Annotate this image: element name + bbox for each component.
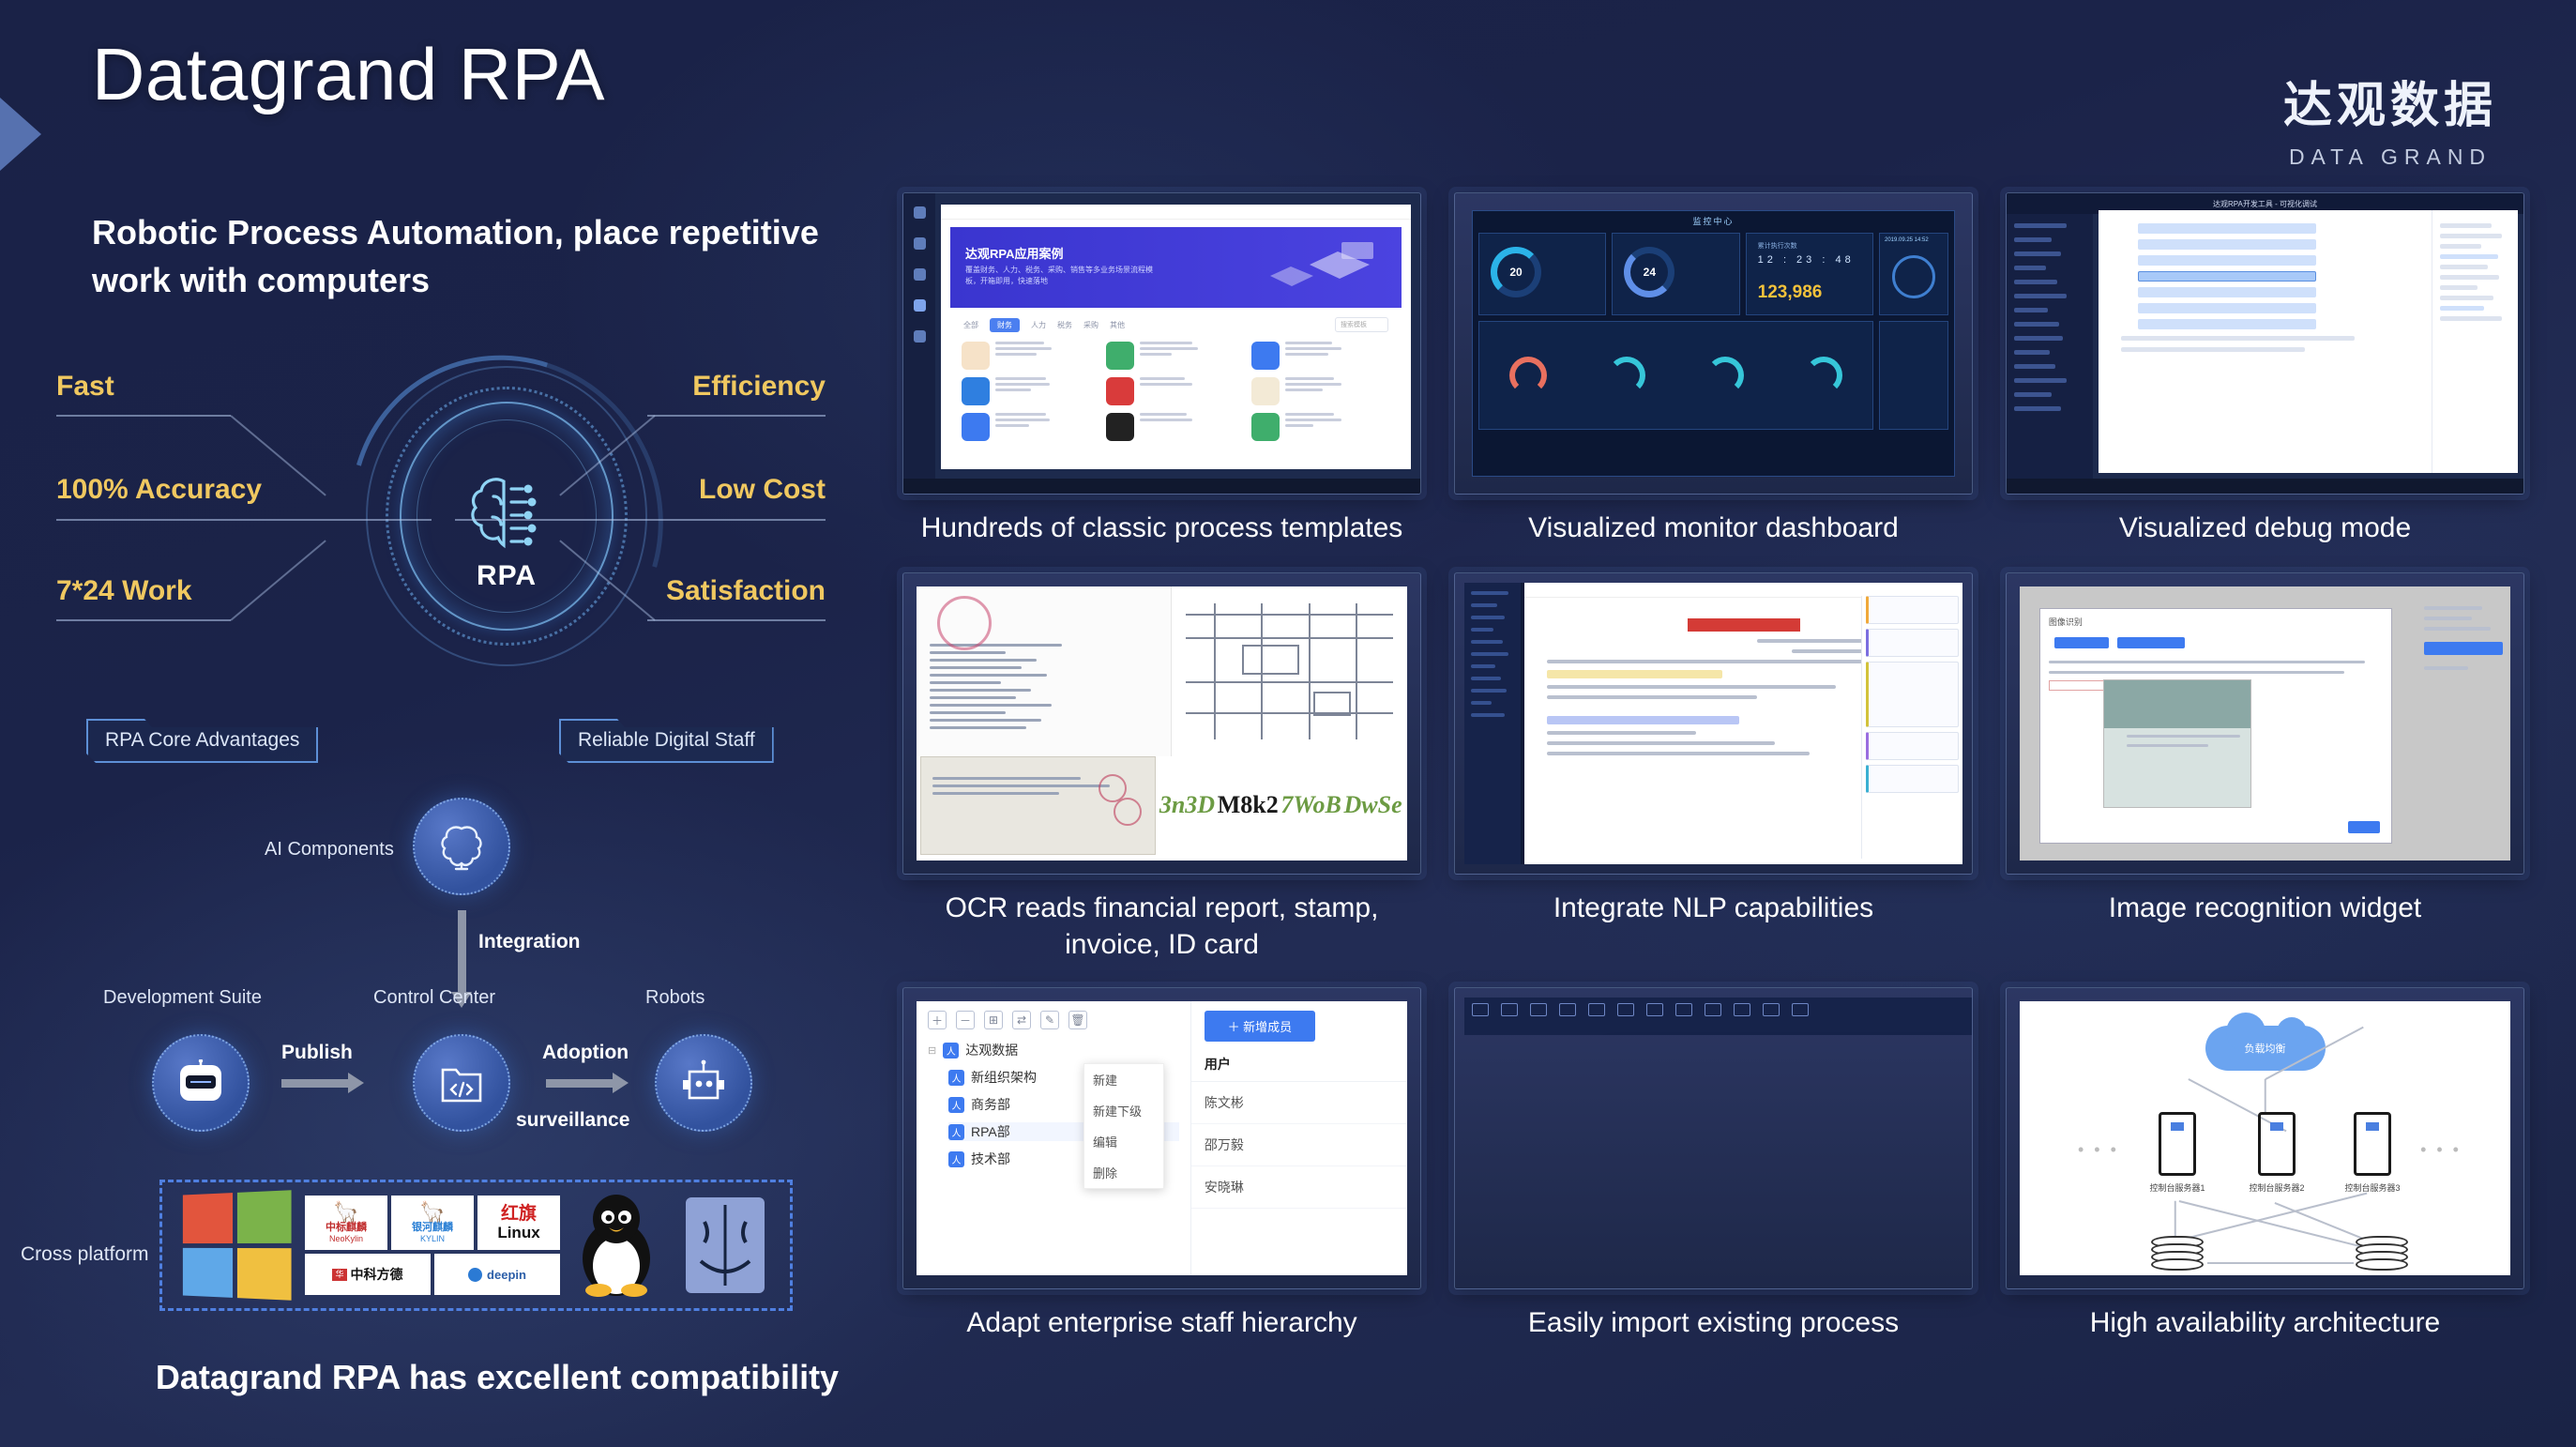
stamp-icon — [937, 596, 992, 650]
edge-srv3-db1 — [2185, 1193, 2367, 1240]
advantage-low-cost: Low Cost — [699, 474, 826, 506]
org-tree-toolbar[interactable]: ＋ － ⊞ ⇄ ✎ 🗑 — [928, 1011, 1179, 1029]
node-ai-components — [413, 798, 510, 895]
tab-other[interactable]: 其他 — [1110, 320, 1125, 330]
recognition-dialog-title: 图像识别 — [2040, 609, 2392, 634]
context-menu[interactable]: 新建 新建下级 编辑 删除 — [1083, 1063, 1164, 1189]
feature-row-1: 达观RPA应用案例 覆盖财务、人力、税务、采购、销售等多业务场景流程模板，开箱即… — [902, 192, 2525, 546]
deepin-logo: deepin — [434, 1254, 560, 1295]
add-icon[interactable]: ＋ — [928, 1011, 947, 1029]
tab-finance[interactable]: 财务 — [990, 318, 1020, 332]
feature-row-3: ＋ － ⊞ ⇄ ✎ 🗑 ⊟ 人 达观数据 — [902, 987, 2525, 1341]
template-tabs[interactable]: 全部 财务 人力 税务 采购 其他 搜索模板 — [950, 308, 1402, 338]
run-icon[interactable] — [1588, 1003, 1605, 1016]
kpi-card-a: 20 — [1478, 233, 1606, 315]
collapse-icon[interactable]: ⊟ — [928, 1044, 936, 1057]
deepin-name: deepin — [487, 1269, 526, 1281]
ocr-id-card-scan — [920, 756, 1156, 855]
record-icon[interactable] — [1617, 1003, 1634, 1016]
org-tree-panel[interactable]: ＋ － ⊞ ⇄ ✎ 🗑 ⊟ 人 达观数据 — [917, 1001, 1191, 1275]
tab-all[interactable]: 全部 — [963, 320, 978, 330]
tree-child-1: 新组织架构 — [971, 1068, 1037, 1087]
advantage-fast: Fast — [56, 371, 114, 403]
redo-icon[interactable] — [1559, 1003, 1576, 1016]
screenshot-nlp-document[interactable] — [1454, 572, 1973, 875]
advantage-accuracy: 100% Accuracy — [56, 474, 262, 506]
caption-template-gallery: Hundreds of classic process templates — [902, 510, 1421, 546]
label-robots: Robots — [645, 987, 705, 1009]
user-list-header: 用户 — [1191, 1042, 1407, 1082]
flow-label-integration: Integration — [478, 931, 581, 953]
redflag-linux-logo: 红旗 Linux — [477, 1196, 560, 1250]
feature-card-nlp[interactable]: Integrate NLP capabilities — [1454, 572, 1973, 963]
connector-satisfaction — [647, 619, 826, 621]
load-balancer-cloud: 负载均衡 — [2205, 1026, 2326, 1071]
caption-staff-hierarchy: Adapt enterprise staff hierarchy — [902, 1304, 1421, 1341]
edge-srv1-db2 — [2179, 1200, 2371, 1249]
database-master-label: MySQL-Master — [2126, 1288, 2229, 1289]
kpi-card-total: 累计执行次数 12 : 23 : 48 123,986 — [1746, 233, 1873, 315]
nfs-china-logo: 华 中科方德 — [305, 1254, 431, 1295]
recognition-side-panel — [2424, 600, 2503, 681]
finder-logo — [673, 1188, 778, 1302]
recognition-target-image — [2103, 679, 2250, 808]
undo-icon[interactable] — [1530, 1003, 1547, 1016]
caption-nlp: Integrate NLP capabilities — [1454, 890, 1973, 926]
arrow-integration — [458, 910, 466, 993]
cross-platform-logos: 🦙 中标麒麟 NeoKylin 🦙 银河麒麟 KYLIN 红旗 Linux 华 … — [159, 1180, 793, 1311]
nlp-sidebar — [1464, 583, 1521, 864]
redflag-name-cn: 红旗 — [501, 1205, 537, 1223]
load-balancer-label: 负载均衡 — [2245, 1041, 2286, 1056]
user-row[interactable]: 陈文彬 — [1191, 1082, 1407, 1124]
screenshot-ocr-documents[interactable]: 3n3D M8k2 7WoB DwSe — [902, 572, 1421, 875]
feature-row-2: 3n3D M8k2 7WoB DwSe OCR reads financial … — [902, 572, 2525, 963]
robot-node-icon — [679, 1059, 728, 1107]
add-member-button[interactable]: ＋ 新增成员 — [1205, 1011, 1315, 1042]
robot-head-node-icon — [174, 1059, 227, 1106]
rpa-center-label: RPA — [477, 560, 537, 592]
kylin-name-cn: 银河麒麟 — [412, 1223, 453, 1233]
user-row[interactable]: 安晓琳 — [1191, 1166, 1407, 1209]
screenshot-image-recognition[interactable]: 图像识别 — [2006, 572, 2524, 875]
kpi-clock: 12 : 23 : 48 — [1758, 254, 1855, 266]
database-slave — [2356, 1236, 2408, 1285]
template-search-input[interactable]: 搜索模板 — [1335, 317, 1388, 332]
org-icon: 人 — [948, 1151, 964, 1167]
debug-sidebar — [2007, 214, 2093, 479]
recognition-dialog[interactable]: 图像识别 — [2039, 608, 2393, 844]
org-icon: 人 — [948, 1124, 964, 1140]
dashboard-kpi-row: 20 24 累计执行次数 12 : 23 : 48 123,986 2019.0… — [1473, 229, 1954, 319]
compatibility-tagline: Datagrand RPA has excellent compatibilit… — [150, 1358, 844, 1397]
server-2 — [2258, 1112, 2296, 1176]
brand-logo: 达观数据 DATA GRAND — [2283, 66, 2497, 170]
context-menu-edit[interactable]: 编辑 — [1084, 1126, 1163, 1157]
template-item[interactable] — [1106, 413, 1245, 441]
edge-master-slave — [2207, 1262, 2354, 1264]
connector-247-diagonal — [230, 540, 326, 620]
settings-icon[interactable] — [1763, 1003, 1780, 1016]
ocr-captcha-samples: 3n3D M8k2 7WoB DwSe — [1159, 756, 1404, 855]
node-control-center — [413, 1034, 510, 1132]
captcha-3: 7WoB — [1280, 791, 1341, 819]
member-panel: ＋ 新增成员 用户 陈文彬 邵万毅 安晓琳 — [1191, 1001, 1407, 1275]
tab-purchase[interactable]: 采购 — [1083, 320, 1099, 330]
template-item[interactable] — [1251, 377, 1390, 405]
kpi-card-b: 24 — [1612, 233, 1739, 315]
ocr-report-scan — [917, 586, 1172, 756]
page-subtitle: Robotic Process Automation, place repeti… — [92, 208, 861, 304]
template-hero-title: 达观RPA应用案例 — [965, 244, 1063, 262]
cross-platform-label: Cross platform — [21, 1243, 149, 1266]
taskbar — [903, 479, 1420, 494]
rpa-architecture-flow: AI Components Integration Development Su… — [0, 779, 891, 1154]
ocr-cad-drawing — [1172, 586, 1407, 756]
debug-canvas[interactable] — [2099, 210, 2518, 473]
brand-logo-en: DATA GRAND — [2283, 145, 2497, 170]
dashboard-timestamp: 2019.09.25 14:52 — [1885, 237, 1929, 243]
taskbar — [2007, 479, 2523, 494]
template-item[interactable] — [1251, 413, 1390, 441]
screenshot-import-process[interactable]: 编程 网络 Word Excel PDF PPT 系统与文件操作 图片与验证码 … — [1454, 987, 1973, 1289]
kylin-logo: 🦙 银河麒麟 KYLIN — [391, 1196, 474, 1250]
template-card-grid — [950, 338, 1402, 445]
template-item[interactable] — [1251, 342, 1390, 370]
user-row[interactable]: 邵万毅 — [1191, 1124, 1407, 1166]
recognition-confirm-button[interactable] — [2348, 821, 2380, 833]
brain-node-icon — [438, 821, 485, 872]
caption-image-recognition: Image recognition widget — [2006, 890, 2524, 926]
caption-ha-architecture: High availability architecture — [2006, 1304, 2524, 1341]
feature-card-monitor-dashboard[interactable]: 监控中心 20 24 累计执行次数 12 : 23 : 48 123,986 — [1454, 192, 1973, 546]
captcha-1: 3n3D — [1159, 791, 1215, 819]
ellipsis-left: • • • — [2078, 1140, 2119, 1160]
flow-label-publish: Publish — [281, 1042, 353, 1064]
advantage-satisfaction: Satisfaction — [666, 575, 826, 607]
debug-properties-panel — [2432, 210, 2518, 473]
org-icon: 人 — [948, 1097, 964, 1113]
nlp-entity-panel — [1861, 596, 1962, 859]
template-item[interactable] — [962, 377, 1100, 405]
screenshot-staff-hierarchy[interactable]: ＋ － ⊞ ⇄ ✎ 🗑 ⊟ 人 达观数据 — [902, 987, 1421, 1289]
nfs-name-cn: 中科方德 — [351, 1268, 403, 1281]
screenshot-debug-mode[interactable]: 达观RPA开发工具 - 可视化调试 — [2006, 192, 2524, 495]
export-icon[interactable] — [1675, 1003, 1692, 1016]
tux-penguin-logo — [560, 1188, 673, 1302]
stop-icon[interactable] — [1646, 1003, 1663, 1016]
template-item[interactable] — [1106, 377, 1245, 405]
ellipsis-right: • • • — [2420, 1140, 2462, 1160]
kpi-total-value: 123,986 — [1758, 282, 1823, 303]
dashboard-title: 监控中心 — [1473, 211, 1954, 229]
server-2-label: 控制台服务器2 — [2225, 1181, 2328, 1194]
screenshot-monitor-dashboard[interactable]: 监控中心 20 24 累计执行次数 12 : 23 : 48 123,986 — [1454, 192, 1973, 495]
server-1-label: 控制台服务器1 — [2126, 1181, 2229, 1194]
caption-ocr: OCR reads financial report, stamp, invoi… — [902, 890, 1421, 963]
dashboard-rate-row — [1473, 319, 1954, 432]
template-hero-subtitle: 覆盖财务、人力、税务、采购、销售等多业务场景流程模板，开箱即用，快速落地 — [965, 265, 1162, 287]
template-item[interactable] — [962, 342, 1100, 370]
node-development-suite — [152, 1034, 250, 1132]
advantage-efficiency: Efficiency — [692, 371, 826, 403]
brand-logo-cn: 达观数据 — [2283, 66, 2497, 136]
template-item[interactable] — [1106, 342, 1245, 370]
label-development-suite: Development Suite — [103, 987, 262, 1009]
connector-fast — [56, 415, 231, 417]
kpi-total-label: 累计执行次数 — [1758, 241, 1797, 251]
neokylin-name-en: NeoKylin — [329, 1235, 363, 1243]
captcha-2: M8k2 — [1218, 791, 1279, 819]
tab-tax[interactable]: 税务 — [1057, 320, 1072, 330]
org-icon: 人 — [943, 1043, 959, 1059]
tree-child-4: 技术部 — [971, 1150, 1010, 1168]
kylin-name-en: KYLIN — [420, 1235, 445, 1243]
save-icon[interactable] — [1501, 1003, 1518, 1016]
rate-card-list — [1879, 321, 1948, 430]
label-control-center: Control Center — [373, 987, 495, 1009]
minus-icon[interactable]: － — [956, 1011, 975, 1029]
rpa-hud-graphic: RPA — [356, 361, 657, 671]
edge-lb-srv2 — [2265, 1079, 2266, 1113]
node-robots — [655, 1034, 752, 1132]
import-toolbar[interactable] — [1464, 998, 1973, 1035]
neokylin-name-cn: 中标麒麟 — [326, 1223, 367, 1233]
app-sidebar — [903, 193, 935, 479]
tree-child-3: RPA部 — [971, 1122, 1010, 1141]
server-3 — [2354, 1112, 2391, 1176]
tag-reliable-digital-staff: Reliable Digital Staff — [559, 719, 774, 763]
database-slave-label: MySQL-Slave — [2330, 1288, 2433, 1289]
screenshot-ha-architecture[interactable]: 负载均衡 控制台服务器1 控制台服务器2 控制台服务器3 • • • • • • — [2006, 987, 2524, 1289]
kpi-card-clock: 2019.09.25 14:52 — [1879, 233, 1948, 315]
tab-hr[interactable]: 人力 — [1031, 320, 1046, 330]
redflag-name-en: Linux — [497, 1225, 539, 1241]
context-menu-delete[interactable]: 删除 — [1084, 1157, 1163, 1188]
donut-chart-b: 24 — [1624, 247, 1674, 297]
feature-card-import-process[interactable]: 编程 网络 Word Excel PDF PPT 系统与文件操作 图片与验证码 … — [1454, 987, 1973, 1341]
help-icon[interactable] — [1792, 1003, 1809, 1016]
debug-icon[interactable] — [1734, 1003, 1750, 1016]
feature-card-ha-architecture[interactable]: 负载均衡 控制台服务器1 控制台服务器2 控制台服务器3 • • • • • • — [2006, 987, 2524, 1341]
connector-lowcost — [455, 519, 826, 521]
feature-card-staff-hierarchy[interactable]: ＋ － ⊞ ⇄ ✎ 🗑 ⊟ 人 达观数据 — [902, 987, 1421, 1341]
connector-accuracy — [56, 519, 432, 521]
feature-card-image-recognition[interactable]: 图像识别 — [2006, 572, 2524, 963]
server-1 — [2159, 1112, 2196, 1176]
move-icon[interactable]: ⇄ — [1012, 1011, 1031, 1029]
template-item[interactable] — [962, 413, 1100, 441]
delete-icon[interactable]: 🗑 — [1068, 1011, 1087, 1029]
nlp-doc-title-highlight — [1688, 618, 1800, 632]
template-hero-banner: 达观RPA应用案例 覆盖财务、人力、税务、采购、销售等多业务场景流程模板，开箱即… — [950, 227, 1402, 308]
org-icon: 人 — [948, 1070, 964, 1086]
caption-import-process: Easily import existing process — [1454, 1304, 1973, 1341]
tree-row-root[interactable]: ⊟ 人 达观数据 — [928, 1041, 1179, 1059]
rate-card-group — [1478, 321, 1873, 430]
context-menu-new[interactable]: 新建 — [1084, 1064, 1163, 1095]
connector-efficiency — [647, 415, 826, 417]
tree-child-2: 商务部 — [971, 1095, 1010, 1114]
arrow-publish — [281, 1079, 349, 1088]
import-process-icon[interactable] — [1705, 1003, 1721, 1016]
flow-label-adoption: Adoption — [542, 1042, 629, 1064]
arrow-adoption — [546, 1079, 614, 1088]
connector-247 — [56, 619, 231, 621]
add-box-icon[interactable]: ⊞ — [984, 1011, 1003, 1029]
screenshot-template-gallery[interactable]: 达观RPA应用案例 覆盖财务、人力、税务、采购、销售等多业务场景流程模板，开箱即… — [902, 192, 1421, 495]
advantage-247work: 7*24 Work — [56, 575, 192, 607]
flow-label-surveillance: surveillance — [516, 1109, 629, 1132]
captcha-4: DwSe — [1344, 791, 1402, 819]
edge-srv1-db1 — [2174, 1201, 2176, 1241]
page-title: Datagrand RPA — [92, 32, 605, 117]
feature-card-template-gallery[interactable]: 达观RPA应用案例 覆盖财务、人力、税务、采购、销售等多业务场景流程模板，开箱即… — [902, 192, 1421, 546]
neokylin-logo: 🦙 中标麒麟 NeoKylin — [305, 1196, 387, 1250]
left-chevron-accent — [0, 83, 41, 186]
rpa-advantages-diagram: RPA Fast 100% Accuracy 7*24 Work Efficie… — [56, 371, 882, 662]
ai-brain-icon — [466, 470, 547, 561]
label-ai-components: AI Components — [265, 839, 394, 861]
edit-icon[interactable]: ✎ — [1040, 1011, 1059, 1029]
tree-root-label: 达观数据 — [965, 1041, 1018, 1059]
tag-rpa-core-advantages: RPA Core Advantages — [86, 719, 318, 763]
feature-grid: 达观RPA应用案例 覆盖财务、人力、税务、采购、销售等多业务场景流程模板，开箱即… — [902, 192, 2525, 1341]
context-menu-new-sub[interactable]: 新建下级 — [1084, 1095, 1163, 1126]
donut-chart-a: 20 — [1491, 247, 1541, 297]
caption-debug-mode: Visualized debug mode — [2006, 510, 2524, 546]
new-icon[interactable] — [1472, 1003, 1489, 1016]
code-folder-node-icon — [438, 1060, 485, 1105]
server-3-label: 控制台服务器3 — [2321, 1181, 2424, 1194]
feature-card-debug-mode[interactable]: 达观RPA开发工具 - 可视化调试 — [2006, 192, 2524, 546]
caption-monitor-dashboard: Visualized monitor dashboard — [1454, 510, 1973, 546]
windows-logo — [164, 1188, 305, 1302]
feature-card-ocr[interactable]: 3n3D M8k2 7WoB DwSe OCR reads financial … — [902, 572, 1421, 963]
database-master — [2151, 1236, 2204, 1285]
